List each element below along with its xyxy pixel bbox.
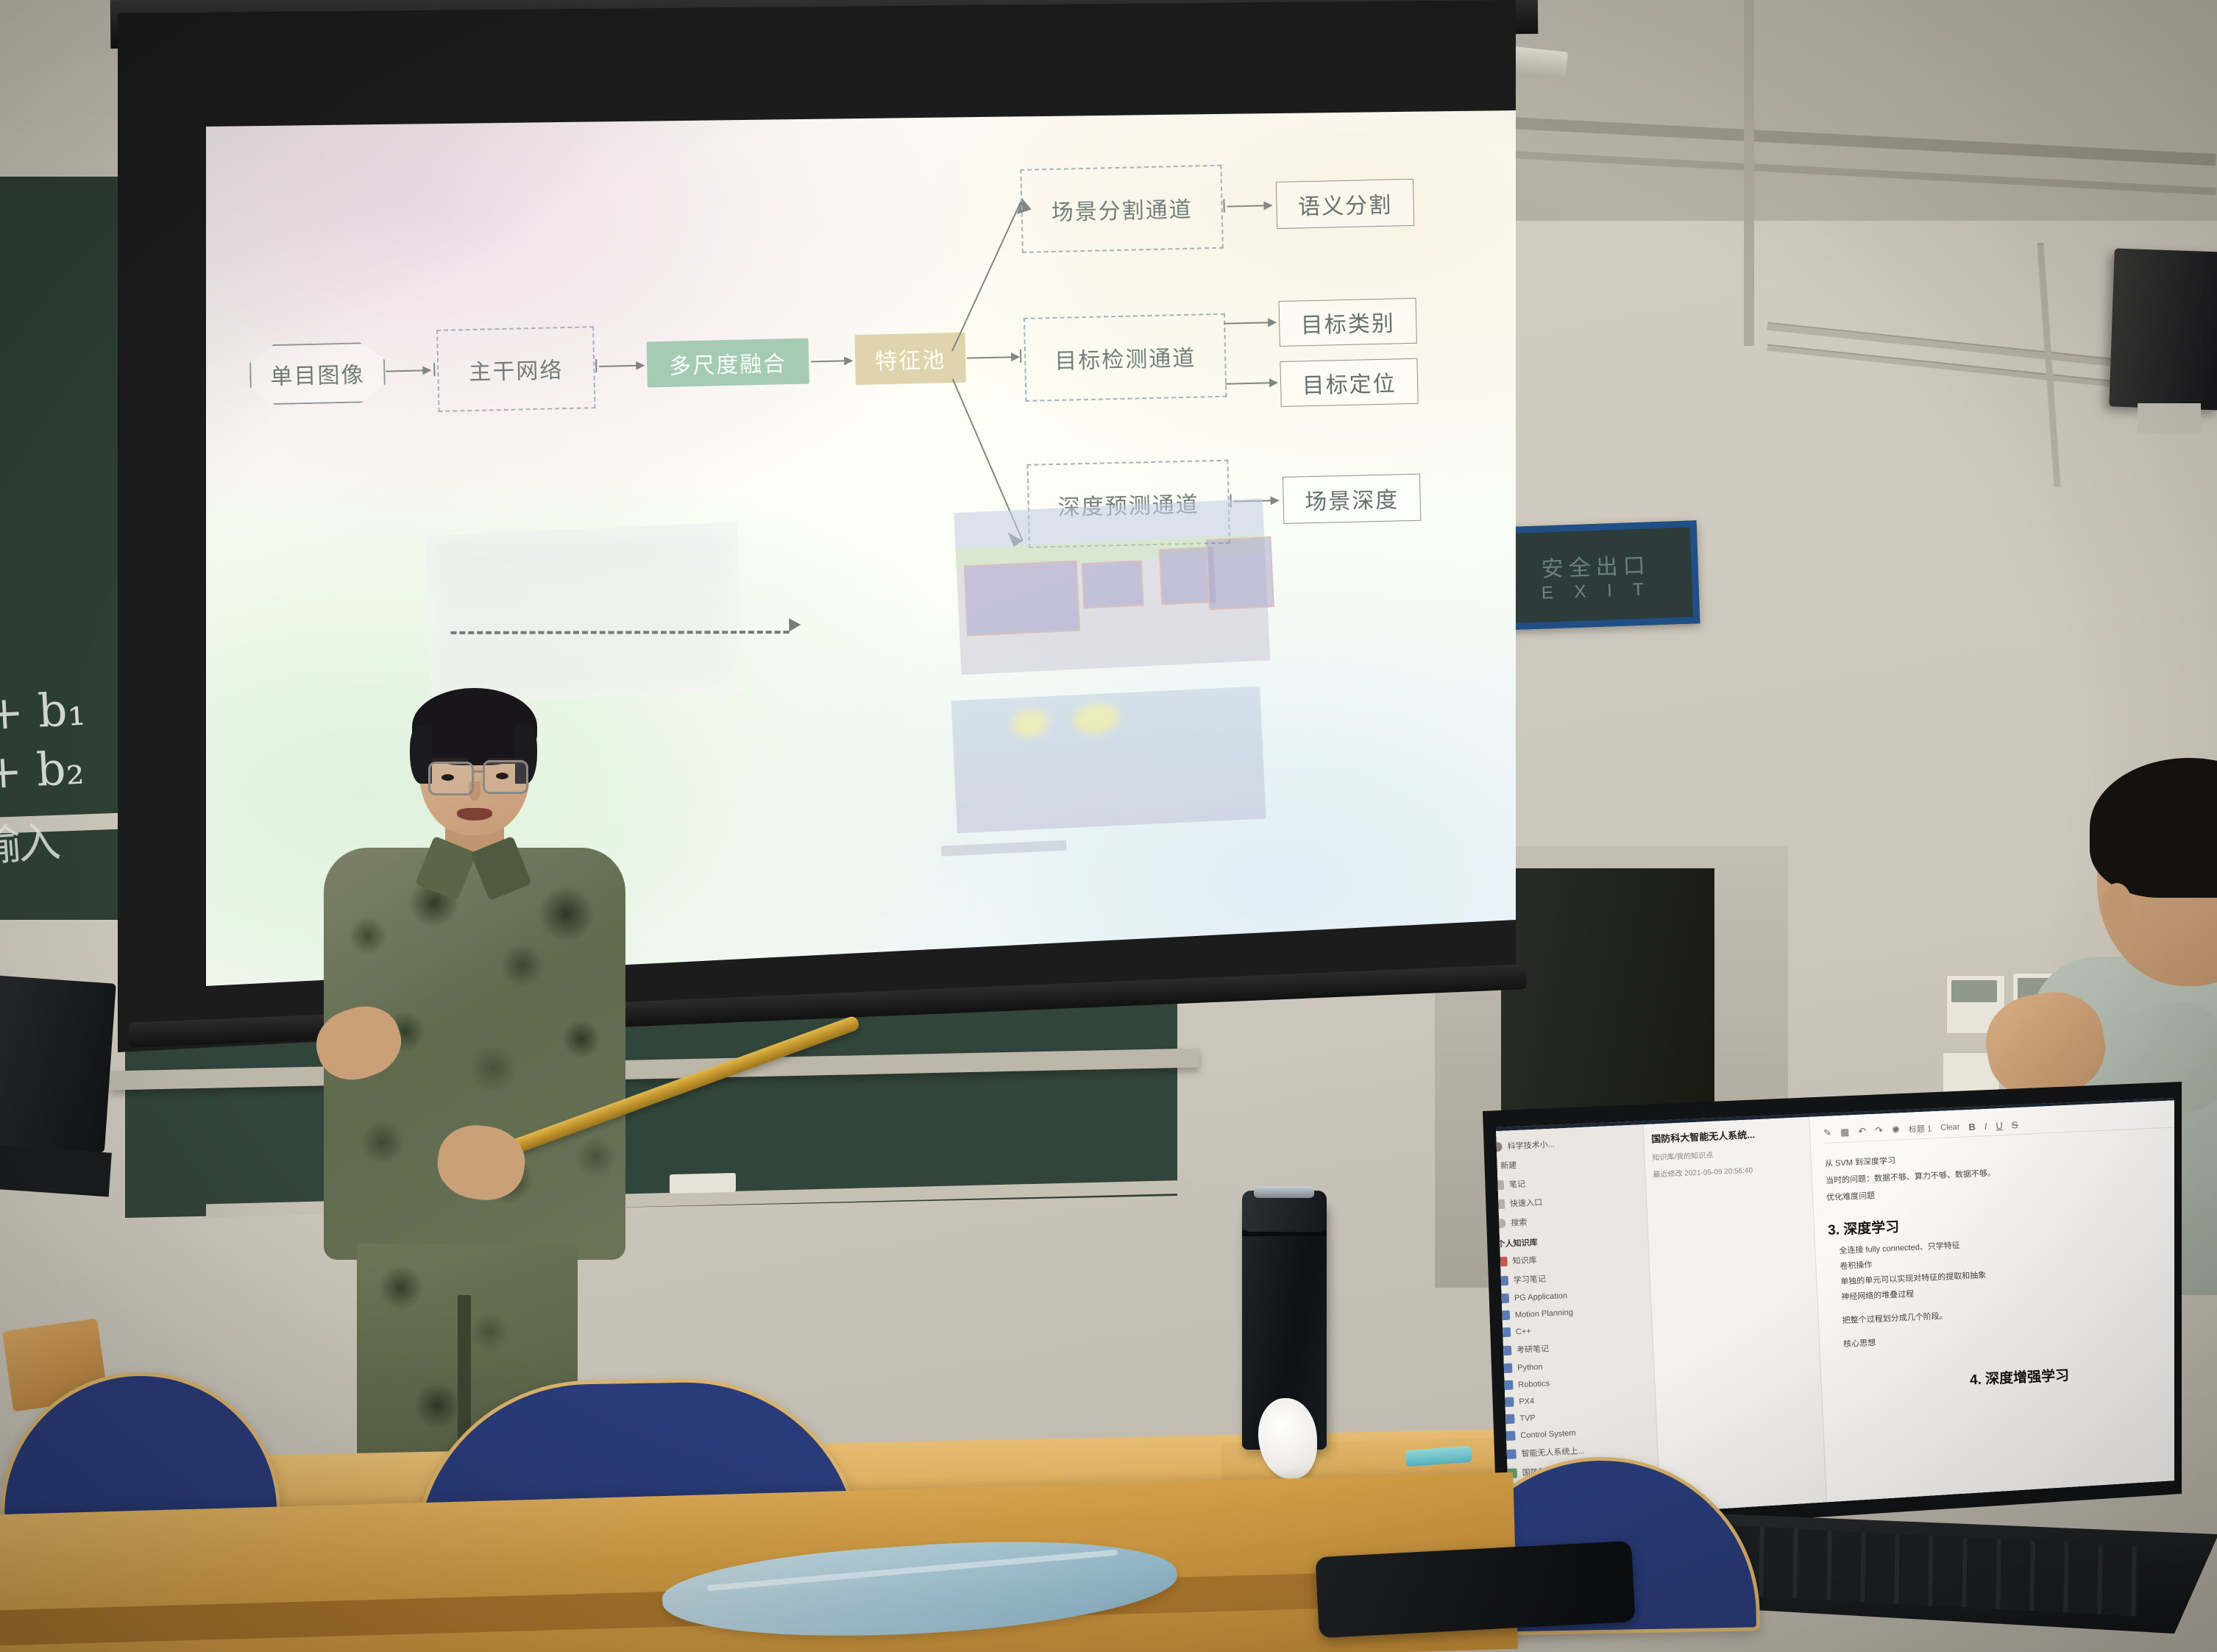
slide-photo-input: [425, 522, 745, 704]
sidebar-item-label: TVP: [1519, 1414, 1536, 1423]
student-ear: [2101, 883, 2132, 929]
smartphone[interactable]: [1315, 1541, 1635, 1638]
sidebar-item-label: 知识库: [1512, 1254, 1537, 1266]
note-editor[interactable]: ✎ ▦ ↶ ↷ ✺ 标题 1 Clear B I U S: [1809, 1099, 2182, 1530]
detection-box: [964, 560, 1080, 636]
chalk-writing-line2: + b₂: [0, 740, 85, 799]
arrow-pool-to-detection: [967, 356, 1018, 359]
tick-seg-out: [1223, 199, 1224, 213]
thermos-top-trim: [1254, 1186, 1314, 1198]
arrow-backbone-to-fusion: [599, 365, 643, 367]
exit-sign-chinese: 安全出口: [1541, 547, 1650, 583]
glasses-bridge: [472, 770, 483, 773]
tick-backbone-in: [433, 363, 435, 376]
diagram-node-branch-seg: 场景分割通道: [1020, 165, 1224, 253]
dashed-flow-arrowhead: [789, 618, 801, 631]
presenter: [294, 684, 648, 1479]
brush-icon[interactable]: ✺: [1892, 1124, 1901, 1135]
book-icon: [1503, 1380, 1514, 1391]
diagram-node-backbone: 主干网络: [436, 326, 595, 412]
diagram-node-input: 单目图像: [249, 342, 386, 405]
student-hair: [2090, 758, 2217, 898]
arrow-det-to-locate: [1225, 382, 1277, 385]
side-monitor: [0, 974, 116, 1153]
sidebar-item-label: 智能无人系统上...: [1521, 1444, 1585, 1459]
italic-icon[interactable]: I: [1984, 1120, 1987, 1131]
classroom-scene: 安全出口 E X I T + b₁ + b₂ 输入 单目图像 主干网络: [0, 0, 2217, 1652]
diagram-node-branch-det: 目标检测通道: [1024, 313, 1227, 402]
slide-watermark: [941, 840, 1066, 857]
blackboard-eraser: [670, 1173, 736, 1194]
speaker-bracket: [2138, 403, 2201, 433]
book-icon: [1506, 1449, 1517, 1459]
undo-icon[interactable]: ↶: [1858, 1125, 1867, 1137]
wall-socket-window: [1951, 980, 1997, 1002]
sidebar-item-label: Control System: [1520, 1428, 1576, 1439]
diagram-out-class: 目标类别: [1279, 298, 1417, 347]
note-title: 国防科大智能无人系统...: [1651, 1124, 1803, 1145]
diagram-out-depth: 场景深度: [1283, 474, 1421, 524]
paint-icon[interactable]: ✎: [1823, 1127, 1832, 1139]
table-icon[interactable]: ▦: [1840, 1126, 1850, 1138]
sidebar-item-label: Robotics: [1518, 1379, 1550, 1389]
sidebar-item-label: Python: [1517, 1362, 1543, 1372]
font-select[interactable]: Clear: [1940, 1123, 1960, 1132]
sidebar-item-label: 学习笔记: [1513, 1272, 1546, 1286]
sidebar-item-label: 考研笔记: [1517, 1342, 1550, 1355]
tick-detection-in: [1020, 350, 1021, 363]
sidebar-item-label: PG Application: [1514, 1291, 1568, 1302]
book-icon: [1505, 1414, 1515, 1425]
detection-box: [1082, 560, 1144, 609]
sidebar-item-label: Motion Planning: [1515, 1308, 1573, 1319]
quick-label: 快速入口: [1510, 1196, 1543, 1209]
diagram-out-locate: 目标定位: [1280, 358, 1418, 407]
quick-label: 笔记: [1509, 1178, 1526, 1191]
arrow-seg-to-semantic: [1227, 205, 1271, 207]
diagram-out-semantic: 语义分割: [1276, 179, 1414, 229]
chalk-writing-line1: + b₁: [0, 681, 87, 740]
detection-box: [1205, 536, 1274, 610]
exit-sign-english: E X I T: [1541, 579, 1652, 603]
presenter-nose: [469, 781, 480, 801]
chalk-writing-line3: 输入: [0, 806, 60, 873]
diagram-node-feature-pool: 特征池: [854, 333, 966, 385]
arrow-fusion-to-pool: [811, 360, 851, 362]
arrow-input-to-backbone: [386, 369, 430, 372]
diagram-node-fusion: 多尺度融合: [647, 338, 809, 388]
underline-icon[interactable]: U: [1996, 1119, 2003, 1130]
depth-hotspot: [1012, 709, 1049, 737]
account-label: 科学技术小...: [1507, 1138, 1555, 1152]
doc-line: 核心思想: [1843, 1322, 2182, 1350]
arrow-det-to-class: [1224, 322, 1275, 325]
redo-icon[interactable]: ↷: [1875, 1124, 1884, 1136]
note-meta: 最近修改 2021-05-09 20:56:40: [1653, 1161, 1803, 1179]
slide-photo-depth: [951, 687, 1266, 834]
slide-photo-segmentation: [954, 499, 1270, 676]
chalkboard-left: [0, 177, 132, 920]
presenter-eye-right: [496, 773, 508, 779]
note-breadcrumb: 知识库/我的知识点: [1652, 1144, 1803, 1162]
sidebar-item-label: PX4: [1519, 1397, 1534, 1406]
book-icon: [1505, 1431, 1516, 1441]
presenter-mouth: [457, 808, 492, 820]
wall-speaker: [2109, 248, 2217, 410]
document-body[interactable]: 从 SVM 到深度学习 当时的问题：数据不够、算力不够、数据不够。 优化难度问题…: [1824, 1127, 2182, 1394]
depth-hotspot: [1073, 703, 1120, 735]
wall-corner: [1744, 0, 1754, 346]
book-icon: [1504, 1397, 1514, 1408]
side-keyboard: [0, 1143, 112, 1197]
dashed-flow-arrow: [451, 631, 790, 634]
presenter-eye-left: [441, 774, 454, 781]
strikethrough-icon[interactable]: S: [2011, 1119, 2018, 1130]
exit-sign: 安全出口 E X I T: [1492, 520, 1700, 631]
tick-backbone-out: [595, 359, 597, 372]
heading-select[interactable]: 标题 1: [1909, 1122, 1932, 1135]
doc-heading-4: 4. 深度增强学习: [1834, 1358, 2182, 1395]
bold-icon[interactable]: B: [1968, 1121, 1976, 1132]
sidebar-item-label: C++: [1516, 1327, 1531, 1336]
doc-line: 把整个过程划分成几个阶段。: [1842, 1298, 2182, 1326]
quick-label: 搜索: [1511, 1216, 1528, 1228]
